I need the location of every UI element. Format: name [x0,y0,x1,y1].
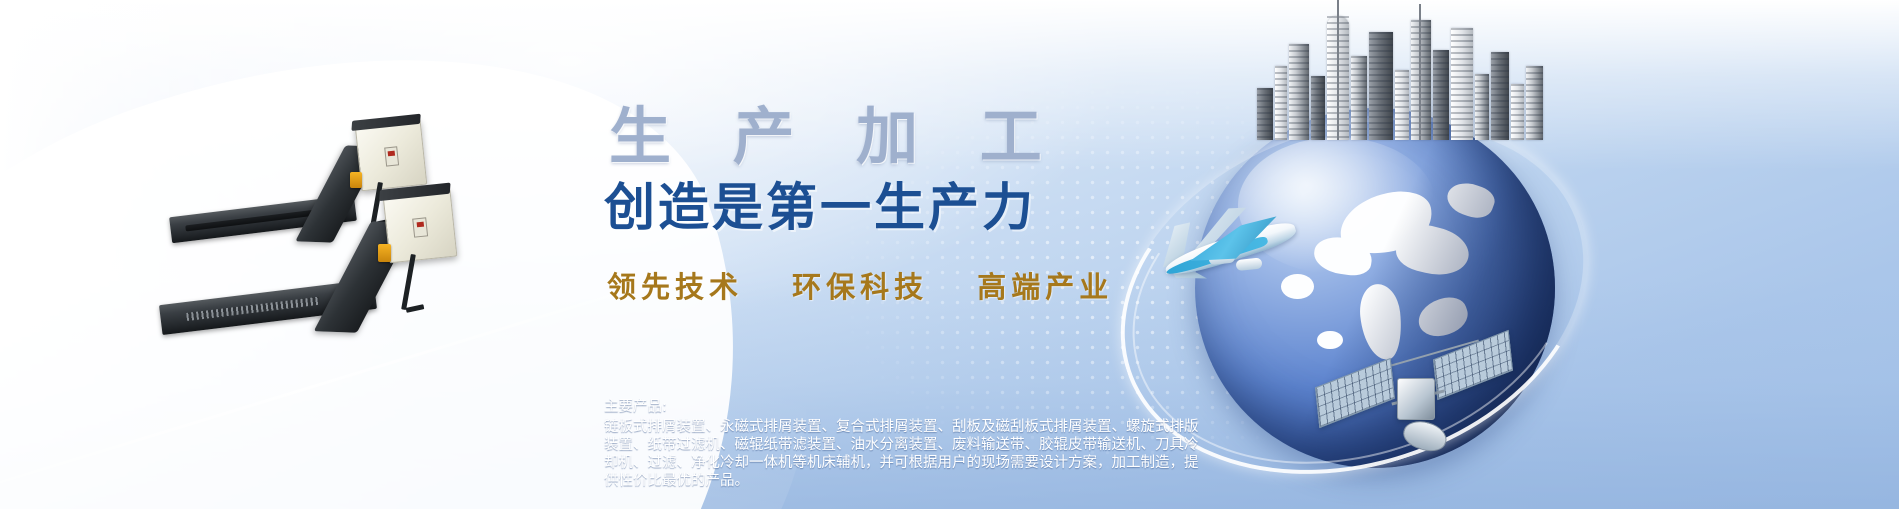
tagline-item-2: 环保科技 [792,270,928,304]
product-description: 主要产品: 链板式排屑装置、永磁式排屑装置、复合式排屑装置、刮板及磁刮板式排屑装… [604,398,1294,490]
subheadline-slogan: 创造是第一生产力 [604,166,1036,240]
promotional-banner: 生 产 加 工 创造是第一生产力 领先技术 环保科技 高端产业 主要产品: 链板… [0,0,1899,509]
description-line: 却机、过滤、净化冷却一体机等机床辅机，并可根据用户的现场需要设计方案，加工制造，… [604,454,1294,472]
tagline-item-1: 领先技术 [607,270,743,304]
headline-title: 生 产 加 工 [609,86,1062,176]
description-line: 装置、纸带过滤机、磁辊纸带滤装置、油水分离装置、废料输送带、胶辊皮带输送机、刀具… [604,436,1294,454]
description-line: 供性价比最优的产品。 [604,472,1294,490]
tagline-item-3: 高端产业 [977,270,1113,304]
text-block: 生 产 加 工 创造是第一生产力 领先技术 环保科技 高端产业 主要产品: 链板… [0,0,1899,509]
description-line: 链板式排屑装置、永磁式排屑装置、复合式排屑装置、刮板及磁刮板式排屑装置、螺旋式排… [604,418,1294,436]
description-label: 主要产品: [604,398,1294,416]
tagline-row: 领先技术 环保科技 高端产业 [607,264,1113,306]
